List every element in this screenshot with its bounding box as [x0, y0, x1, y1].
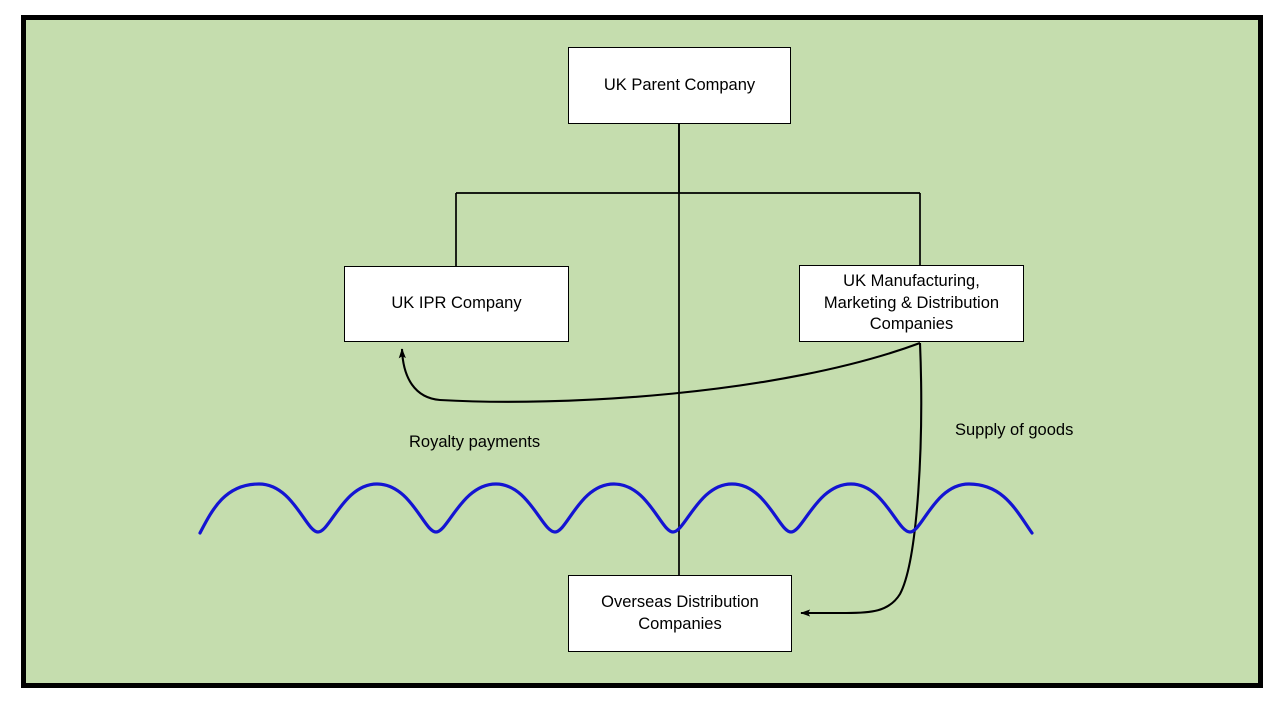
node-label: UK IPR Company: [385, 293, 527, 315]
connector-royalty-payments: [402, 343, 920, 402]
node-label: Overseas Distribution Companies: [595, 592, 765, 636]
connector-parent-to-children: [456, 124, 920, 266]
diagram-canvas: UK Parent Company UK IPR Company UK Manu…: [0, 0, 1280, 720]
connector-supply-of-goods: [801, 343, 921, 613]
edge-label-supply-of-goods: Supply of goods: [955, 421, 1073, 440]
edge-label-royalty-payments: Royalty payments: [409, 433, 540, 452]
node-overseas-distribution-companies[interactable]: Overseas Distribution Companies: [568, 575, 792, 652]
national-border-wave: [200, 484, 1032, 533]
node-uk-parent-company[interactable]: UK Parent Company: [568, 47, 791, 124]
node-label: UK Manufacturing, Marketing & Distributi…: [818, 271, 1005, 337]
node-label: UK Parent Company: [598, 75, 761, 97]
node-uk-ipr-company[interactable]: UK IPR Company: [344, 266, 569, 342]
node-uk-manufacturing-marketing-distribution-companies[interactable]: UK Manufacturing, Marketing & Distributi…: [799, 265, 1024, 342]
